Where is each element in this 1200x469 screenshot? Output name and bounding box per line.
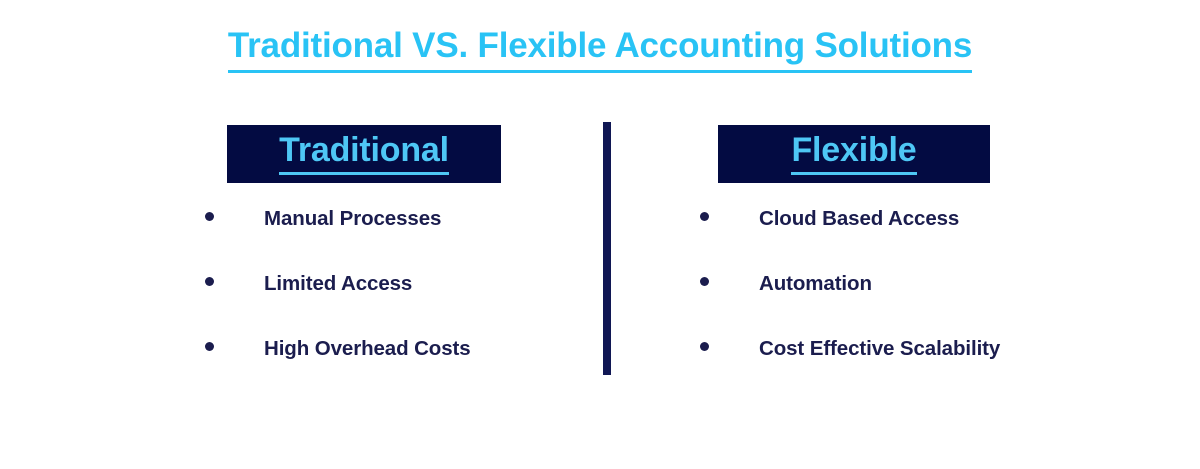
- bullet-dot-icon: [700, 212, 709, 221]
- bullet-list-flexible: Cloud Based Access Automation Cost Effec…: [640, 183, 1080, 378]
- column-traditional: Traditional Manual Processes Limited Acc…: [150, 125, 590, 378]
- vertical-divider: [603, 122, 611, 375]
- column-header-flexible: Flexible: [718, 125, 990, 183]
- comparison-columns: Traditional Manual Processes Limited Acc…: [0, 0, 1200, 469]
- list-item: Limited Access: [150, 248, 590, 313]
- list-item: Automation: [640, 248, 1080, 313]
- list-item: High Overhead Costs: [150, 313, 590, 378]
- list-item-label: Automation: [759, 272, 872, 296]
- bullet-dot-icon: [700, 342, 709, 351]
- bullet-dot-icon: [700, 277, 709, 286]
- column-header-traditional: Traditional: [227, 125, 501, 183]
- list-item: Manual Processes: [150, 183, 590, 248]
- column-header-flexible-label: Flexible: [791, 133, 916, 175]
- list-item-label: Cloud Based Access: [759, 207, 959, 231]
- column-header-traditional-label: Traditional: [279, 133, 449, 175]
- column-flexible: Flexible Cloud Based Access Automation C…: [640, 125, 1080, 378]
- bullet-list-traditional: Manual Processes Limited Access High Ove…: [150, 183, 590, 378]
- bullet-dot-icon: [205, 277, 214, 286]
- list-item-label: Limited Access: [264, 272, 412, 296]
- list-item: Cost Effective Scalability: [640, 313, 1080, 378]
- comparison-slide: Traditional VS. Flexible Accounting Solu…: [0, 0, 1200, 469]
- list-item: Cloud Based Access: [640, 183, 1080, 248]
- list-item-label: Manual Processes: [264, 207, 441, 231]
- bullet-dot-icon: [205, 342, 214, 351]
- list-item-label: High Overhead Costs: [264, 337, 471, 361]
- bullet-dot-icon: [205, 212, 214, 221]
- list-item-label: Cost Effective Scalability: [759, 337, 1000, 361]
